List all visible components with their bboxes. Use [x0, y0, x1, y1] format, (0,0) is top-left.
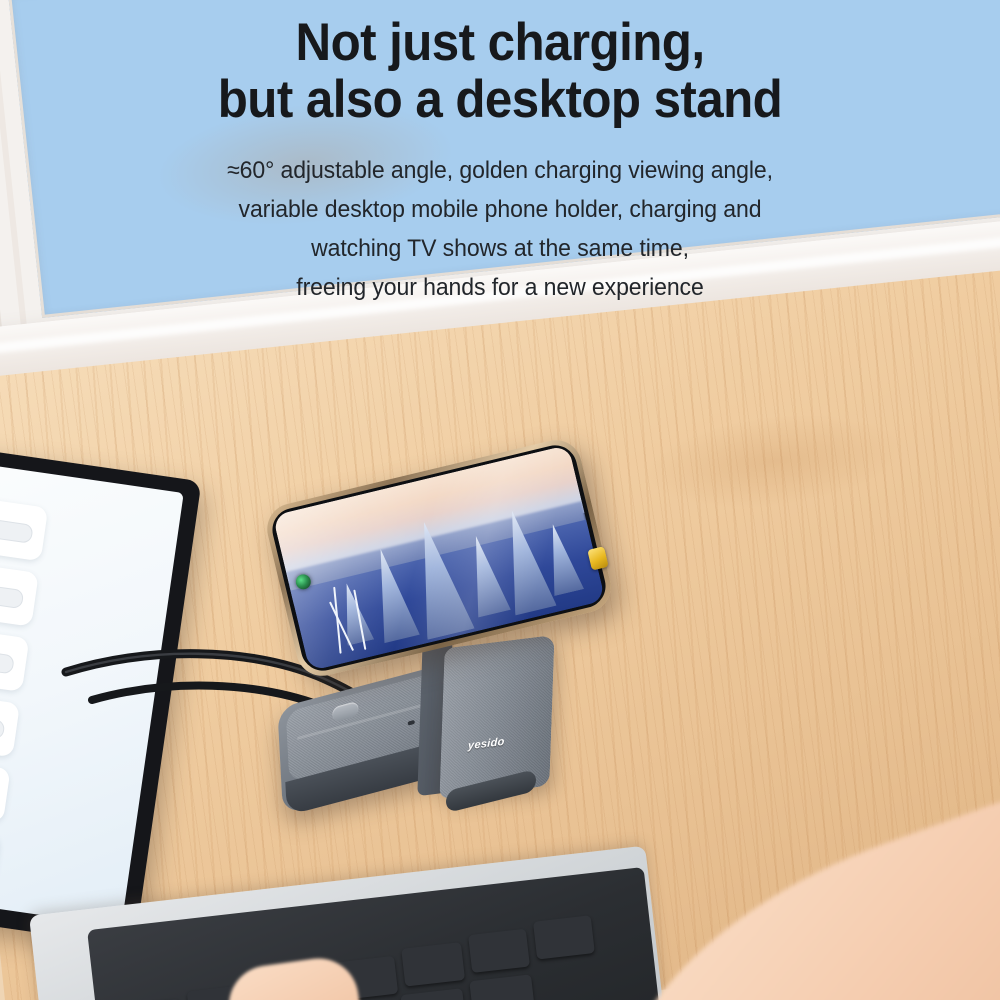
subtitle-line-2: variable desktop mobile phone holder, ch…: [87, 191, 913, 230]
keyboard-key: [468, 929, 530, 973]
keyboard-key: [400, 988, 466, 1000]
subtitle-line-4: freeing your hands for a new experience: [87, 269, 913, 308]
subtitle-description: ≈60° adjustable angle, golden charging v…: [87, 152, 913, 308]
product-marketing-image: delete yesido: [0, 0, 1000, 1000]
page-title: Not just charging, but also a desktop st…: [35, 0, 965, 128]
keyboard-key: [533, 915, 595, 959]
list-item-action-pill: [0, 714, 5, 740]
keyboard-key: [469, 974, 535, 1000]
list-item: [0, 478, 48, 561]
keyboard-key: [401, 942, 465, 987]
list-item-action-pill: [0, 583, 24, 609]
phone-charging-stand: yesido: [270, 480, 650, 830]
phone-edge-badge: [587, 546, 608, 570]
list-item-action-pill: [0, 518, 34, 544]
stand-arm: [439, 635, 554, 799]
subtitle-line-1: ≈60° adjustable angle, golden charging v…: [87, 152, 913, 191]
marketing-copy: Not just charging, but also a desktop st…: [0, 0, 1000, 308]
subtitle-line-3: watching TV shows at the same time,: [87, 230, 913, 269]
headline-line-1: Not just charging,: [35, 14, 965, 71]
headline-line-2: but also a desktop stand: [35, 71, 965, 128]
list-item-action-pill: [0, 649, 15, 675]
